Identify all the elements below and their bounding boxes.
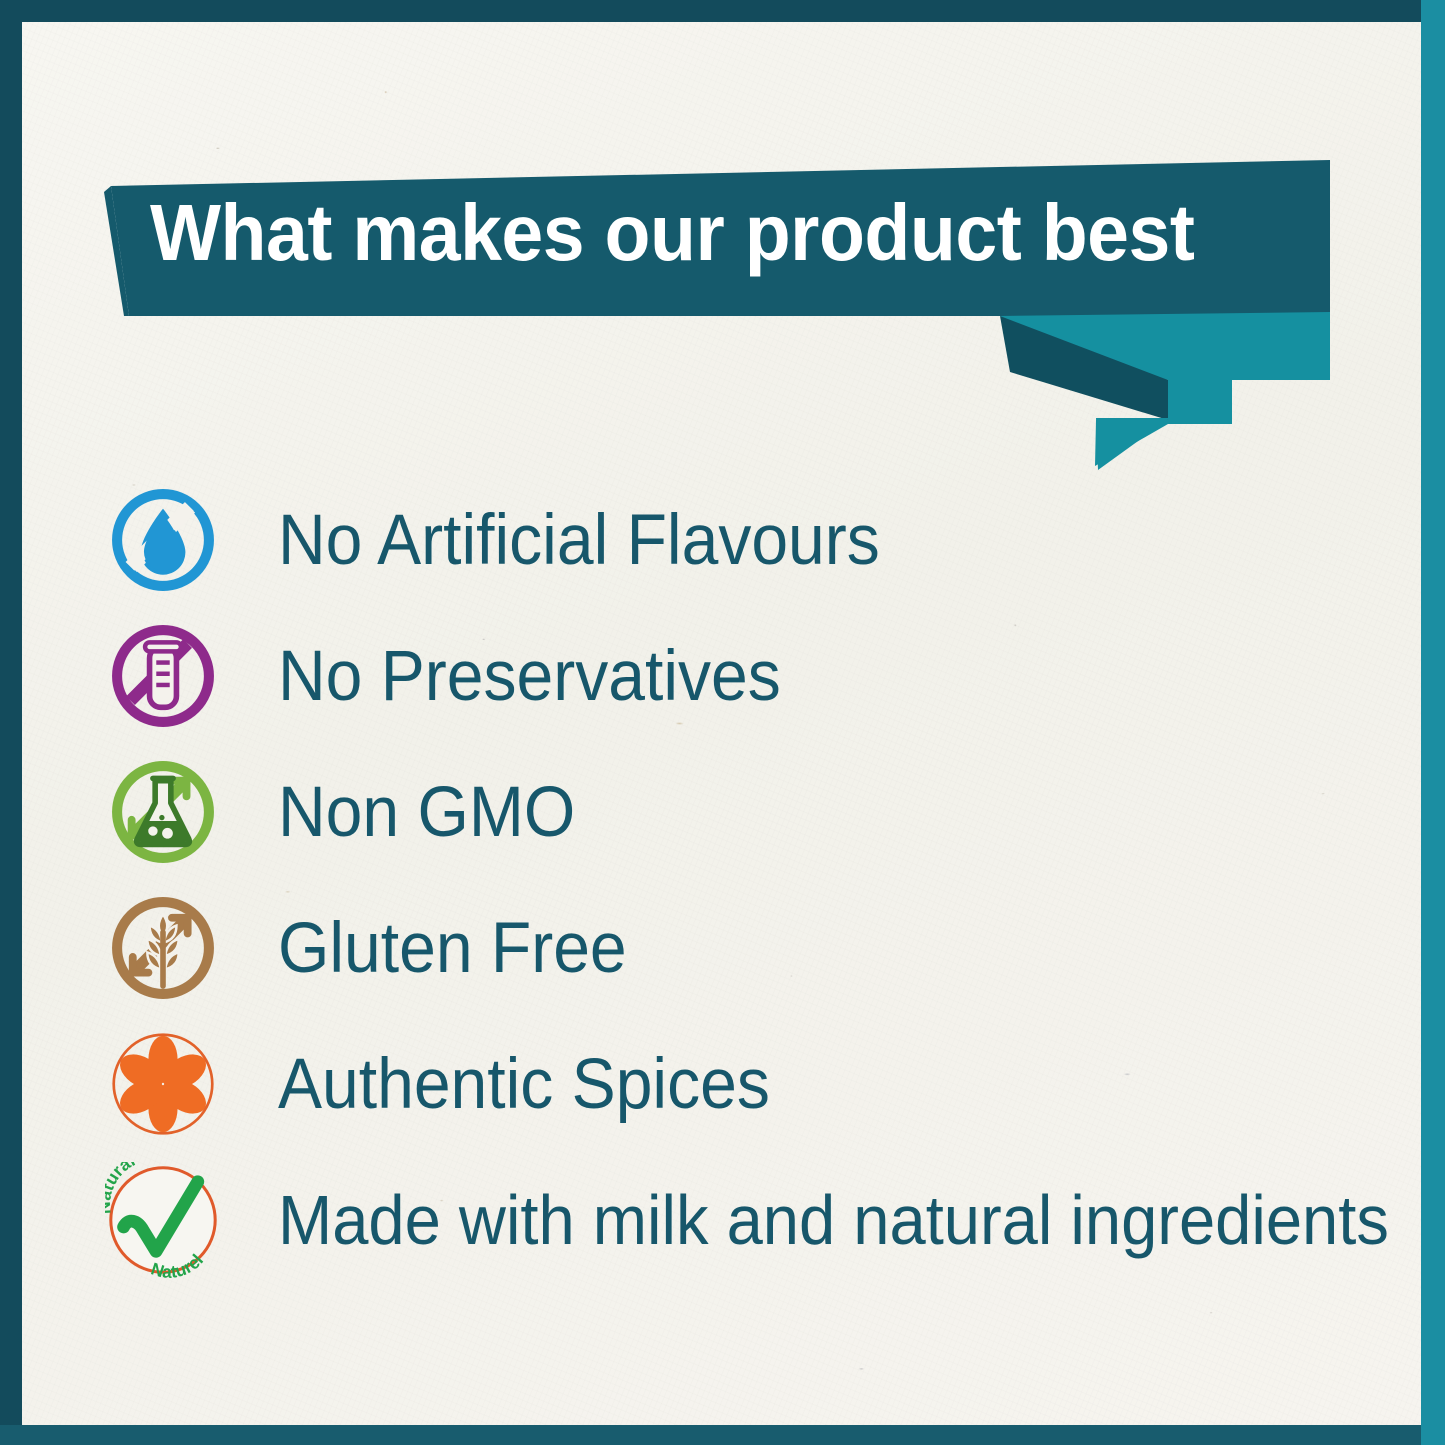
infographic-poster: What makes our product best bbox=[0, 0, 1445, 1445]
page-title: What makes our product best bbox=[150, 193, 1240, 273]
feature-row: Non GMO bbox=[104, 744, 1394, 880]
border-bottom bbox=[0, 1425, 1445, 1445]
no-preservatives-icon bbox=[104, 617, 222, 735]
feature-row: Authentic Spices bbox=[104, 1016, 1394, 1152]
feature-label: No Artificial Flavours bbox=[278, 505, 880, 576]
non-gmo-icon bbox=[104, 753, 222, 871]
feature-row: Natural Naturel Made with milk and natur… bbox=[104, 1152, 1394, 1288]
authentic-spices-icon bbox=[104, 1025, 222, 1143]
natural-naturel-icon: Natural Naturel bbox=[104, 1161, 222, 1279]
feature-label: Made with milk and natural ingredients bbox=[278, 1185, 1389, 1255]
border-right bbox=[1421, 0, 1445, 1445]
feature-list: No Artificial Flavours No bbox=[104, 472, 1394, 1288]
feature-row: No Artificial Flavours bbox=[104, 472, 1394, 608]
no-artificial-flavours-icon bbox=[104, 481, 222, 599]
border-left bbox=[0, 0, 22, 1445]
border-top bbox=[0, 0, 1445, 22]
gluten-free-icon bbox=[104, 889, 222, 1007]
feature-label: Gluten Free bbox=[278, 913, 627, 984]
feature-label: Non GMO bbox=[278, 777, 575, 848]
feature-row: Gluten Free bbox=[104, 880, 1394, 1016]
feature-label: Authentic Spices bbox=[278, 1049, 770, 1120]
feature-label: No Preservatives bbox=[278, 641, 781, 712]
feature-row: No Preservatives bbox=[104, 608, 1394, 744]
